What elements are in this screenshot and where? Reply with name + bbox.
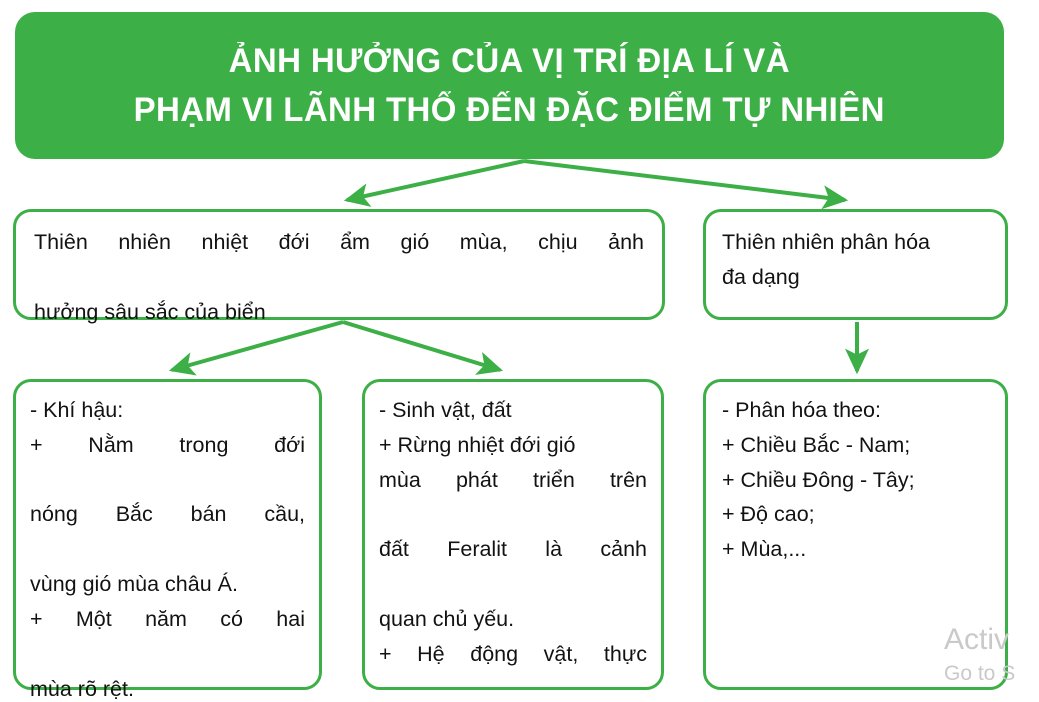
node-line: + Một năm có hai [30, 602, 305, 672]
node-line: đa dạng [722, 260, 989, 295]
node-line: + Rừng nhiệt đới gió [379, 428, 647, 463]
arrow-title-to-differentiation [524, 161, 845, 200]
node-line: Thiên nhiên nhiệt đới ẩm gió mùa, chịu ả… [34, 225, 644, 295]
node-line: + Mùa,... [722, 532, 989, 567]
node-line: - Sinh vật, đất [379, 393, 647, 428]
node-climate: - Khí hậu: + Nằm trong đới nóng Bắc bán … [13, 379, 322, 690]
arrow-title-to-nature [347, 161, 524, 200]
node-line: Thiên nhiên phân hóa [722, 225, 989, 260]
node-biota-and-soil: - Sinh vật, đất + Rừng nhiệt đới gió mùa… [362, 379, 664, 690]
node-line: + Chiều Bắc - Nam; [722, 428, 989, 463]
node-line: + Chiều Đông - Tây; [722, 463, 989, 498]
node-line: quan chủ yếu. [379, 602, 647, 637]
node-line: - Khí hậu: [30, 393, 305, 428]
node-line: đất Feralit là cảnh [379, 532, 647, 602]
node-line: mùa rõ rệt. [30, 672, 305, 702]
node-tropical-monsoon-nature-text: Thiên nhiên nhiệt đới ẩm gió mùa, chịu ả… [34, 225, 644, 329]
node-line: + Độ cao; [722, 497, 989, 532]
node-tropical-monsoon-nature: Thiên nhiên nhiệt đới ẩm gió mùa, chịu ả… [13, 209, 665, 320]
diagram-canvas: ẢNH HƯỞNG CỦA VỊ TRÍ ĐỊA LÍ VÀ PHẠM VI L… [0, 0, 1039, 702]
node-line: + Nằm trong đới [30, 428, 305, 498]
node-biota-and-soil-text: - Sinh vật, đất + Rừng nhiệt đới gió mùa… [379, 393, 647, 702]
node-line: hưởng sâu sắc của biển [34, 295, 644, 330]
node-diverse-differentiation: Thiên nhiên phân hóa đa dạng [703, 209, 1008, 320]
node-line: - Phân hóa theo: [722, 393, 989, 428]
node-diverse-differentiation-text: Thiên nhiên phân hóa đa dạng [722, 225, 989, 295]
node-differentiation-dimensions-text: - Phân hóa theo: + Chiều Bắc - Nam; + Ch… [722, 393, 989, 567]
node-differentiation-dimensions: - Phân hóa theo: + Chiều Bắc - Nam; + Ch… [703, 379, 1008, 690]
node-line: nóng Bắc bán cầu, [30, 497, 305, 567]
diagram-title-banner: ẢNH HƯỞNG CỦA VỊ TRÍ ĐỊA LÍ VÀ PHẠM VI L… [15, 12, 1004, 159]
node-line: + Hệ động vật, thực [379, 637, 647, 702]
node-line: vùng gió mùa châu Á. [30, 567, 305, 602]
node-climate-text: - Khí hậu: + Nằm trong đới nóng Bắc bán … [30, 393, 305, 702]
node-line: mùa phát triển trên [379, 463, 647, 533]
diagram-title-line-2: PHẠM VI LÃNH THỔ ĐẾN ĐẶC ĐIỂM TỰ NHIÊN [134, 86, 885, 134]
diagram-title-line-1: ẢNH HƯỞNG CỦA VỊ TRÍ ĐỊA LÍ VÀ [229, 37, 790, 85]
